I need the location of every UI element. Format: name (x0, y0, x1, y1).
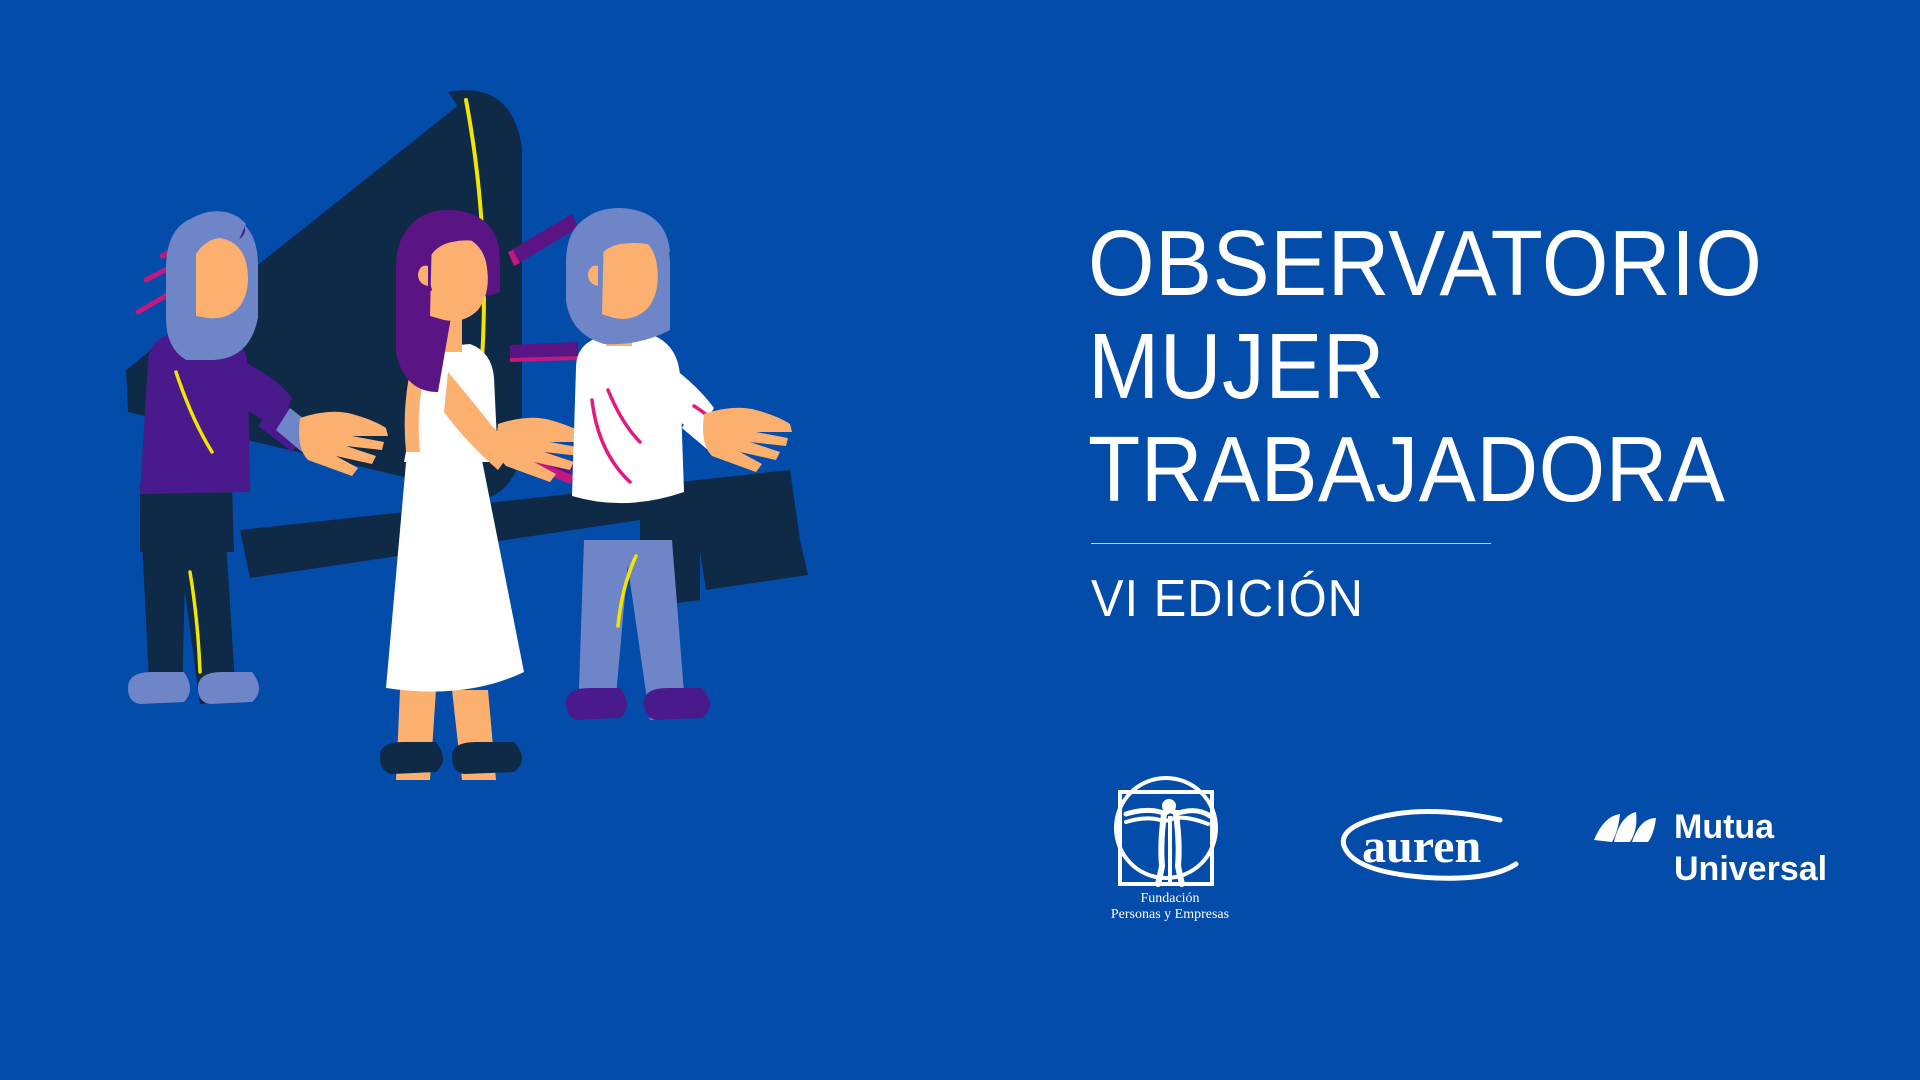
page-title-line-1: OBSERVATORIO (1088, 212, 1750, 315)
title-divider (1091, 543, 1491, 544)
vitruvian-man-icon (1116, 778, 1216, 886)
logo-mutua-universal[interactable]: Mutua Universal (1590, 798, 1850, 894)
figure-woman-in-white-dress (380, 210, 586, 780)
hero-illustration (0, 0, 1080, 1080)
figure-woman-with-blue-bob (566, 208, 792, 720)
logo-mutua-line1: Mutua (1674, 808, 1775, 846)
page-title-line-3: TRABAJADORA (1088, 418, 1750, 521)
logo-fundacion-personas-y-empresas[interactable]: Fundación Personas y Empresas (1090, 770, 1250, 930)
edition-subtitle: VI EDICIÓN (1091, 570, 1765, 628)
hand-icon (703, 408, 792, 472)
megaphone-bracket-icon (240, 470, 808, 608)
poster-canvas: OBSERVATORIO MUJER TRABAJADORA VI EDICIÓ… (0, 0, 1920, 1080)
sponsor-logo-strip: Fundación Personas y Empresas auren (1090, 770, 1890, 930)
logo-fundacion-line1: Fundación (1140, 891, 1199, 906)
fan-petals-icon (1594, 812, 1656, 842)
logo-auren[interactable]: auren (1332, 802, 1522, 888)
logo-mutua-line2: Universal (1674, 850, 1827, 888)
page-title-line-2: MUJER (1088, 315, 1750, 418)
hero-text-block: OBSERVATORIO MUJER TRABAJADORA VI EDICIÓ… (1088, 212, 1808, 628)
logo-fundacion-line2: Personas y Empresas (1111, 907, 1229, 922)
logo-auren-wordmark: auren (1362, 820, 1481, 873)
